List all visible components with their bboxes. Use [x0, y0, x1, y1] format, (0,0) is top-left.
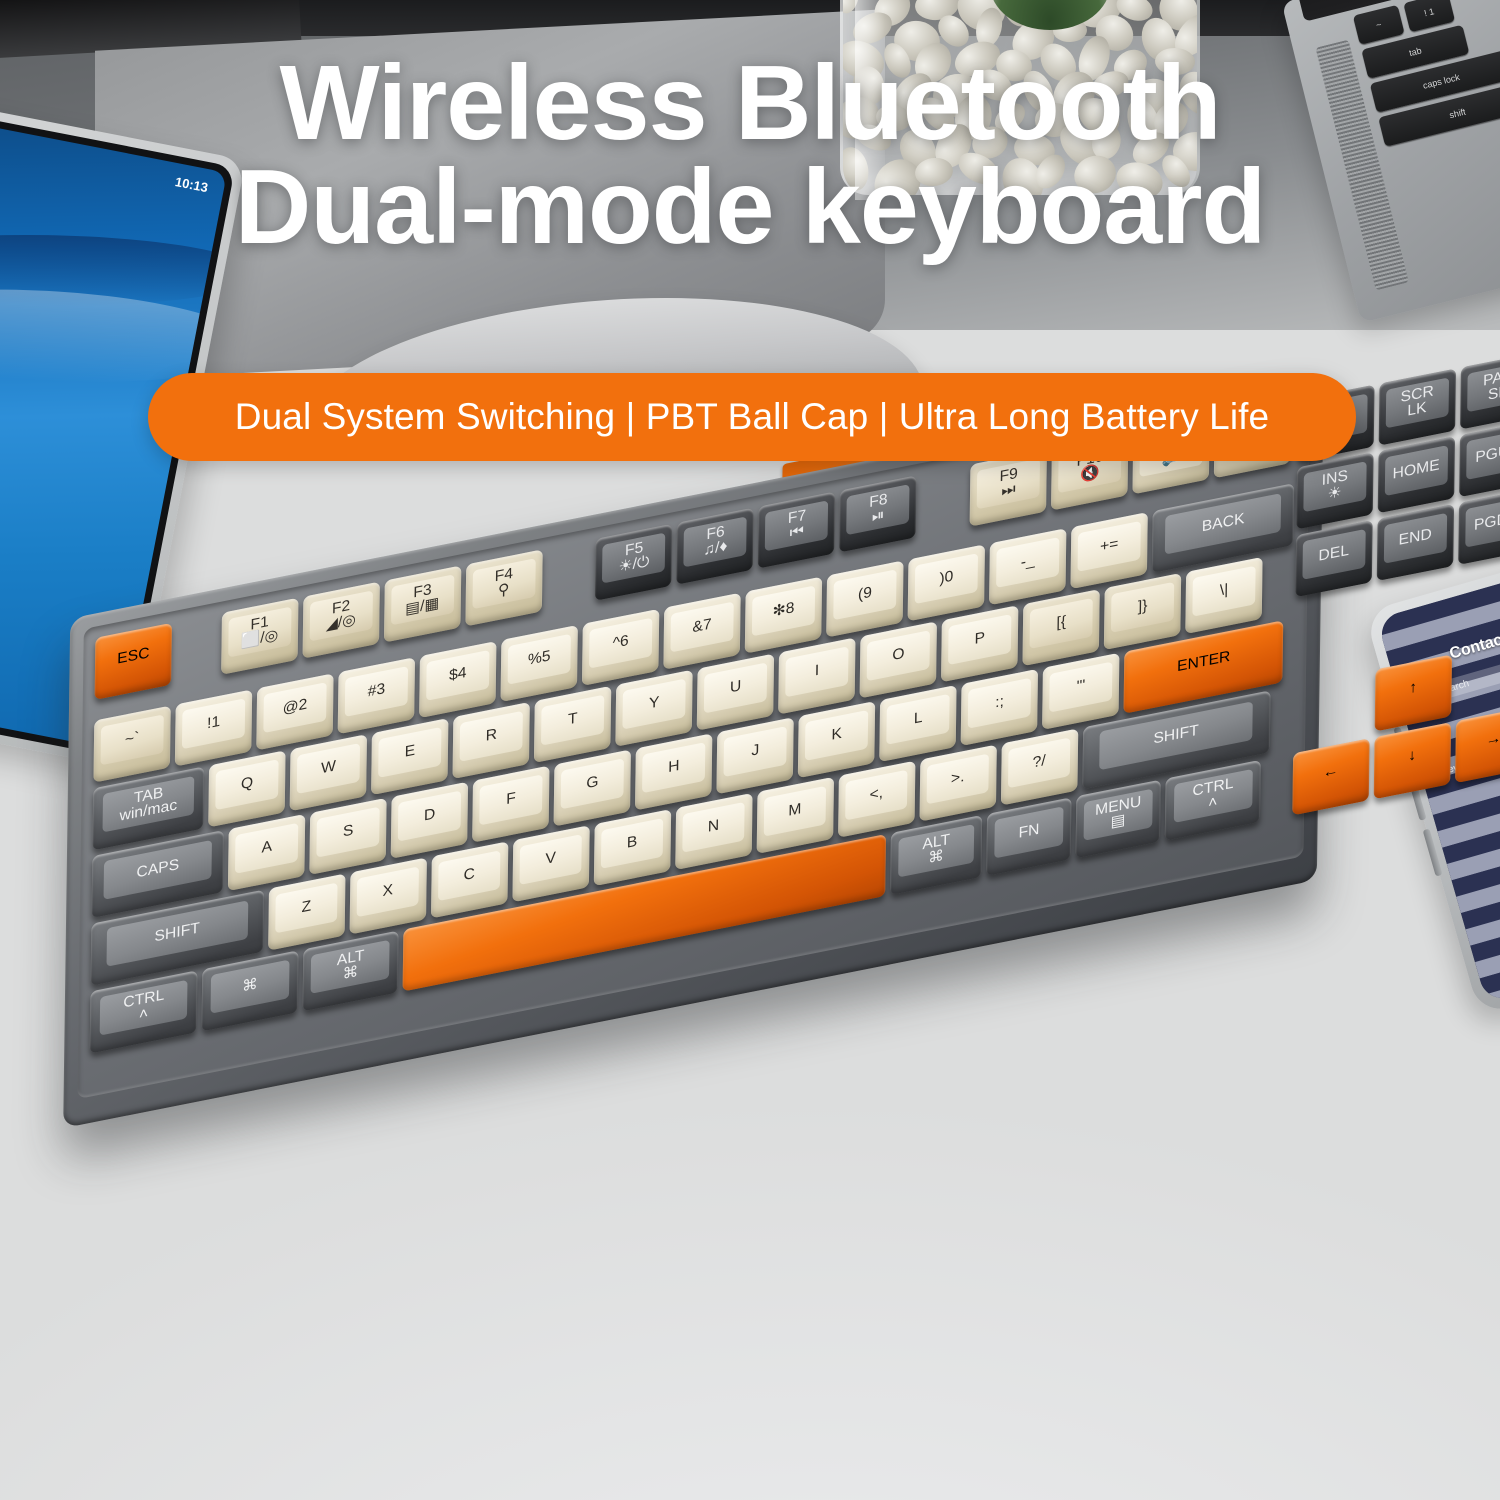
keycap-top: E	[378, 727, 441, 778]
key-sublabel: ⏭	[1001, 482, 1015, 501]
keycap-top: A	[235, 823, 298, 874]
keycap-top: F9⏭	[977, 458, 1040, 509]
key-legend: )0	[939, 569, 953, 588]
keycap-top: F1⬜/◎	[228, 607, 291, 658]
keycap-top: N	[682, 802, 745, 853]
key-label: G	[586, 775, 598, 793]
key-label: END	[1398, 527, 1431, 549]
key-label: K	[831, 726, 842, 744]
keycap-top: ^6	[589, 618, 652, 669]
keycap-top: F5☀/⏻	[602, 532, 665, 583]
key-h[interactable]: H	[635, 733, 712, 810]
key-label: U	[730, 679, 742, 697]
keycap-top: MENU▤	[1083, 789, 1153, 841]
keycap-top: W	[297, 743, 360, 794]
key-shift-legend: <	[869, 786, 878, 804]
key-label: W	[321, 759, 336, 778]
key-bracket-right[interactable]: ]}	[1104, 573, 1181, 650]
key-label: PGDN	[1474, 510, 1500, 535]
keycap-top: F2◢/◎	[309, 590, 372, 641]
keycap-top: END	[1383, 513, 1446, 564]
key-left-win[interactable]: ⌘	[202, 950, 299, 1031]
key-legend: $4	[449, 666, 467, 685]
key-shift-legend: ~	[125, 731, 134, 749]
key-pause[interactable]: PAUSE	[1460, 352, 1500, 429]
key-label: P	[974, 630, 985, 648]
key-legend: "'	[1077, 678, 1086, 695]
key-scroll-lock[interactable]: SCRLK	[1378, 369, 1455, 446]
key-label: X	[382, 883, 393, 901]
key-label: R	[486, 727, 498, 745]
key-bracket-left[interactable]: [{	[1022, 589, 1099, 666]
key-1[interactable]: !1	[175, 689, 252, 766]
key-k[interactable]: K	[798, 701, 875, 778]
key-base-legend: {	[1061, 614, 1066, 631]
key-end[interactable]: END	[1376, 504, 1453, 581]
key-n[interactable]: N	[675, 793, 752, 870]
key-label: B	[627, 834, 638, 852]
keycap-top: V	[519, 834, 582, 885]
key-label: BACK	[1202, 512, 1245, 536]
keycap-top: F8⏯	[847, 484, 910, 535]
key-label: E	[405, 743, 416, 761]
key-0[interactable]: )0	[908, 544, 985, 621]
key-label: F	[506, 791, 516, 809]
key-label: A	[261, 839, 272, 857]
key-base-legend: 4	[458, 665, 467, 683]
keycap-top: #3	[345, 666, 408, 717]
key-v[interactable]: V	[512, 825, 589, 902]
key-g[interactable]: G	[554, 749, 631, 826]
key-legend: !1	[207, 714, 220, 732]
key-z[interactable]: Z	[268, 874, 345, 951]
key-shift-legend: +	[1100, 537, 1109, 555]
keycap-top: DEL	[1302, 529, 1365, 580]
keycap-top: B	[600, 818, 663, 869]
keycap-top: CAPS	[104, 840, 212, 900]
key-label: ESC	[117, 646, 150, 668]
key-p[interactable]: P	[941, 605, 1018, 682]
keycap-top: ~`	[101, 714, 164, 765]
keycap-top: INS☀	[1303, 461, 1366, 512]
keycap-top: TABwin/mac	[103, 776, 195, 833]
key-o[interactable]: O	[860, 621, 937, 698]
keycap-top: [{	[1030, 598, 1093, 649]
key-legend: +=	[1100, 537, 1119, 556]
keycap-top: F3▤/▦	[391, 574, 454, 625]
keycap-top: Y	[623, 678, 686, 729]
key-label: ↑	[1409, 680, 1417, 697]
keycap-top: PAUSE	[1467, 361, 1500, 412]
key-label: L	[914, 710, 923, 728]
key-sublabel: ☀	[1327, 485, 1341, 504]
keycap-top: J	[724, 726, 787, 777]
key-backspace[interactable]: BACK	[1152, 483, 1294, 573]
key-legend: #3	[368, 682, 386, 701]
key-legend: \|	[1220, 582, 1229, 599]
key-label: H	[668, 759, 680, 777]
key-y[interactable]: Y	[615, 670, 692, 747]
key-base-legend: =	[1109, 536, 1118, 554]
keycap-top: )0	[915, 553, 978, 604]
keycap-top: FN	[994, 806, 1064, 858]
keycap-top: Q	[215, 759, 278, 810]
key-shift-legend: @	[283, 698, 299, 717]
key-d[interactable]: D	[391, 782, 468, 859]
key-9[interactable]: (9	[826, 560, 903, 637]
key-base-legend: ;	[999, 693, 1004, 710]
key-sublabel: LK	[1407, 401, 1426, 421]
keycap-top: ESC	[102, 632, 165, 683]
key-sublabel: ♫/♦	[703, 539, 727, 560]
key-shift-legend: >	[951, 770, 960, 788]
key-label: PGUP	[1475, 442, 1500, 467]
key-label: SHIFT	[1153, 723, 1199, 748]
key-base-legend: 3	[376, 681, 385, 699]
keycap-top: ALT⌘	[898, 824, 974, 877]
keyboard-device[interactable]: CapsScr⏻ ESCF1⬜/◎F2◢/◎F3▤/▦F4⚲F5☀/⏻F6♫/♦…	[89, 399, 1302, 1080]
key-shift-legend: &	[692, 618, 703, 636]
key-sublabel: ⌘	[342, 965, 358, 984]
key-r[interactable]: R	[453, 702, 530, 779]
key-base-legend: 5	[542, 648, 551, 666]
keycap-top: %5	[508, 634, 571, 685]
keycap-top: ALT⌘	[311, 940, 390, 994]
keycap-top: CTRL˄	[1173, 769, 1252, 823]
key-sublabel: SE	[1488, 385, 1500, 405]
keycap-top: \|	[1192, 566, 1255, 617]
key-sublabel: ⏮	[790, 524, 804, 543]
key-grave[interactable]: ~`	[93, 705, 170, 782]
key-label: DEL	[1318, 543, 1349, 565]
keyboard-layer: CapsScr⏻ ESCF1⬜/◎F2◢/◎F3▤/▦F4⚲F5☀/⏻F6♫/♦…	[0, 0, 1500, 1500]
key-sublabel: ⏯	[872, 508, 885, 526]
keycap-top: BACK	[1165, 493, 1282, 554]
key-page-up[interactable]: PGUP	[1459, 420, 1500, 497]
key-a[interactable]: A	[228, 814, 305, 891]
key-quote[interactable]: "'	[1042, 653, 1119, 730]
key-label: Y	[649, 695, 660, 713]
keycap-top: "'	[1049, 661, 1112, 712]
keycap-top: R	[460, 711, 523, 762]
key-sublabel: ˄	[1208, 795, 1217, 813]
keycap-top: H	[642, 742, 705, 793]
key-label: N	[708, 818, 720, 836]
key-base-legend: /	[1041, 753, 1046, 770]
keycap-top: SCRLK	[1385, 377, 1448, 428]
keycap-top: :;	[968, 678, 1031, 729]
key-arrow-down[interactable]: ↓	[1373, 722, 1450, 799]
key-base-legend: |	[1224, 581, 1228, 598]
key-sublabel: ⌘	[242, 977, 258, 996]
keycap-top: X	[356, 866, 419, 917]
key-right-ctrl[interactable]: CTRL˄	[1165, 760, 1262, 841]
keycap-top: PGUP	[1466, 429, 1500, 480]
key-left-alt[interactable]: ALT⌘	[302, 930, 399, 1011]
key-slash[interactable]: ?/	[1000, 728, 1077, 805]
keycap-top: @2	[263, 682, 326, 733]
key-minus[interactable]: -_	[989, 528, 1066, 605]
key-semicolon[interactable]: :;	[961, 669, 1038, 746]
key-arrow-right[interactable]: →	[1455, 706, 1500, 783]
key-shift-legend: $	[449, 666, 458, 684]
key-legend: -_	[1021, 553, 1035, 572]
keycap-top: &7	[670, 601, 733, 652]
keycap-top: ⌘	[210, 960, 289, 1014]
key-legend: (9	[858, 585, 872, 604]
key-label: ↓	[1408, 748, 1416, 765]
keycap-top: ✻8	[752, 585, 815, 636]
key-base-legend: 7	[703, 616, 712, 634]
key-legend: ?/	[1032, 754, 1045, 772]
key-c[interactable]: C	[430, 841, 507, 918]
keycap-top: D	[398, 790, 461, 841]
key-8[interactable]: ✻8	[745, 577, 822, 654]
key-2[interactable]: @2	[256, 673, 333, 750]
key-sublabel: ◢/◎	[326, 613, 356, 635]
key-label: S	[343, 823, 354, 841]
keycap-top: -_	[996, 537, 1059, 588]
key-base-legend: '	[1082, 677, 1085, 694]
keycap-top: SHIFT	[1099, 701, 1253, 770]
key-label: T	[568, 711, 578, 729]
key-arrow-up[interactable]: ↑	[1374, 654, 1451, 731]
key-base-legend: 8	[786, 600, 795, 618]
key-6[interactable]: ^6	[582, 609, 659, 686]
key-legend: &7	[692, 617, 711, 637]
key-shift-legend: ?	[1032, 753, 1041, 771]
keycap-top: ]}	[1111, 582, 1174, 633]
keycap-top: →	[1462, 715, 1500, 766]
key-sublabel: ⌘	[928, 849, 944, 868]
key-5[interactable]: %5	[501, 625, 578, 702]
keycap-top: ENTER	[1138, 630, 1269, 694]
key-shift-legend: %	[528, 650, 542, 669]
key-base-legend: 9	[863, 584, 872, 602]
keycap-top: ?/	[1008, 737, 1071, 788]
keycap-top: F7⏮	[765, 500, 828, 551]
key-4[interactable]: $4	[419, 641, 496, 718]
key-fn[interactable]: FN	[986, 797, 1071, 876]
key-comma[interactable]: <,	[838, 761, 915, 838]
feature-banner: Dual System Switching | PBT Ball Cap | U…	[148, 373, 1356, 461]
keycap-top: Z	[275, 882, 338, 933]
key-s[interactable]: S	[309, 798, 386, 875]
key-right-alt[interactable]: ALT⌘	[890, 815, 983, 895]
key-backslash[interactable]: \|	[1185, 557, 1262, 634]
key-page-down[interactable]: PGDN	[1458, 488, 1500, 565]
key-base-legend: _	[1026, 552, 1035, 570]
key-label: →	[1486, 731, 1500, 750]
key-legend: ^6	[613, 634, 629, 653]
key-j[interactable]: J	[717, 717, 794, 794]
key-sublabel: win/mac	[119, 798, 177, 825]
key-w[interactable]: W	[290, 734, 367, 811]
key-label: HOME	[1392, 458, 1439, 483]
keycap-top: <,	[845, 770, 908, 821]
key-legend: :;	[995, 694, 1004, 712]
key-legend: ✻8	[772, 601, 794, 621]
key-home[interactable]: HOME	[1377, 436, 1454, 513]
key-f[interactable]: F	[472, 766, 549, 843]
key-legend: <,	[869, 786, 883, 804]
key-label: M	[788, 802, 801, 820]
key-base-legend: 1	[211, 713, 220, 731]
key-base-legend: .	[960, 769, 965, 786]
key-i[interactable]: I	[778, 637, 855, 714]
key-label: C	[463, 867, 475, 885]
keycap-top: CTRL˄	[99, 980, 187, 1036]
keycap-top: M	[763, 786, 826, 837]
keycap-top: ←	[1299, 747, 1362, 798]
key-label: Q	[241, 775, 253, 793]
key-e[interactable]: E	[371, 718, 448, 795]
keycap-top: ↓	[1380, 731, 1443, 782]
keycap-top: PGDN	[1465, 497, 1500, 548]
key-legend: %5	[528, 649, 551, 669]
keycap-top: K	[805, 710, 868, 761]
key-m[interactable]: M	[756, 777, 833, 854]
keycap-top: (9	[833, 569, 896, 620]
keycap-top: I	[785, 646, 848, 697]
keycap-top: T	[541, 695, 604, 746]
key-x[interactable]: X	[349, 857, 426, 934]
key-label: I	[815, 663, 820, 680]
key-legend: @2	[283, 697, 308, 718]
key-sublabel: 🔇	[1080, 466, 1100, 486]
key-b[interactable]: B	[593, 809, 670, 886]
keycap-top: G	[561, 758, 624, 809]
key-label: SHIFT	[154, 921, 200, 946]
key-label: CAPS	[136, 858, 179, 882]
keycap-top: ↑	[1381, 663, 1444, 714]
key-base-legend: `	[134, 729, 139, 746]
key-sublabel: ▤	[1110, 813, 1125, 832]
key-label: FN	[1018, 822, 1039, 842]
key-sublabel: ▤/▦	[405, 596, 439, 619]
key-base-legend: 6	[620, 633, 629, 651]
key-base-legend: 0	[944, 568, 953, 586]
key-t[interactable]: T	[534, 686, 611, 763]
keycap-top: L	[886, 694, 949, 745]
keycap-top: O	[867, 630, 930, 681]
key-base-legend: }	[1142, 597, 1147, 614]
feature-banner-text: Dual System Switching | PBT Ball Cap | U…	[235, 396, 1269, 438]
keycap-top: >.	[926, 753, 989, 804]
keycap-top: +=	[1078, 521, 1141, 572]
keycap-top: C	[438, 850, 501, 901]
keycap-top: F6♫/♦	[684, 516, 747, 567]
key-label: J	[751, 743, 759, 760]
key-legend: ~`	[125, 730, 140, 749]
key-sublabel: ⬜/◎	[240, 628, 278, 651]
key-label: ←	[1323, 763, 1339, 782]
key-u[interactable]: U	[697, 654, 774, 731]
key-7[interactable]: &7	[663, 593, 740, 670]
key-sublabel: ⚲	[498, 583, 510, 601]
key-base-legend: ,	[879, 785, 884, 802]
key-label: O	[892, 646, 904, 664]
keycap-top: P	[948, 614, 1011, 665]
key-3[interactable]: #3	[338, 657, 415, 734]
key-base-legend: 2	[298, 696, 307, 714]
key-label: ENTER	[1177, 649, 1230, 675]
keycap-top: HOME	[1384, 445, 1447, 496]
key-period[interactable]: >.	[919, 745, 996, 822]
key-sublabel: ☀/⏻	[618, 555, 649, 577]
keycap-top: $4	[426, 650, 489, 701]
keycap-top: U	[704, 662, 767, 713]
key-shift-legend: #	[368, 683, 377, 701]
key-legend: >.	[951, 770, 965, 788]
key-label: V	[545, 851, 556, 869]
keycap-top: F4⚲	[472, 558, 535, 609]
keycap-top: S	[317, 807, 380, 858]
key-menu[interactable]: MENU▤	[1075, 780, 1160, 859]
key-legend: [{	[1056, 614, 1066, 632]
key-equals[interactable]: +=	[1070, 512, 1147, 589]
keycap-top: F	[479, 774, 542, 825]
key-q[interactable]: Q	[208, 750, 285, 827]
key-legend: ]}	[1138, 598, 1148, 616]
key-sublabel: ˄	[139, 1007, 148, 1025]
key-label: Z	[301, 899, 311, 917]
key-l[interactable]: L	[879, 685, 956, 762]
key-shift-legend: ✻	[772, 601, 785, 620]
keycap-top: !1	[182, 698, 245, 749]
key-label: D	[424, 807, 436, 825]
